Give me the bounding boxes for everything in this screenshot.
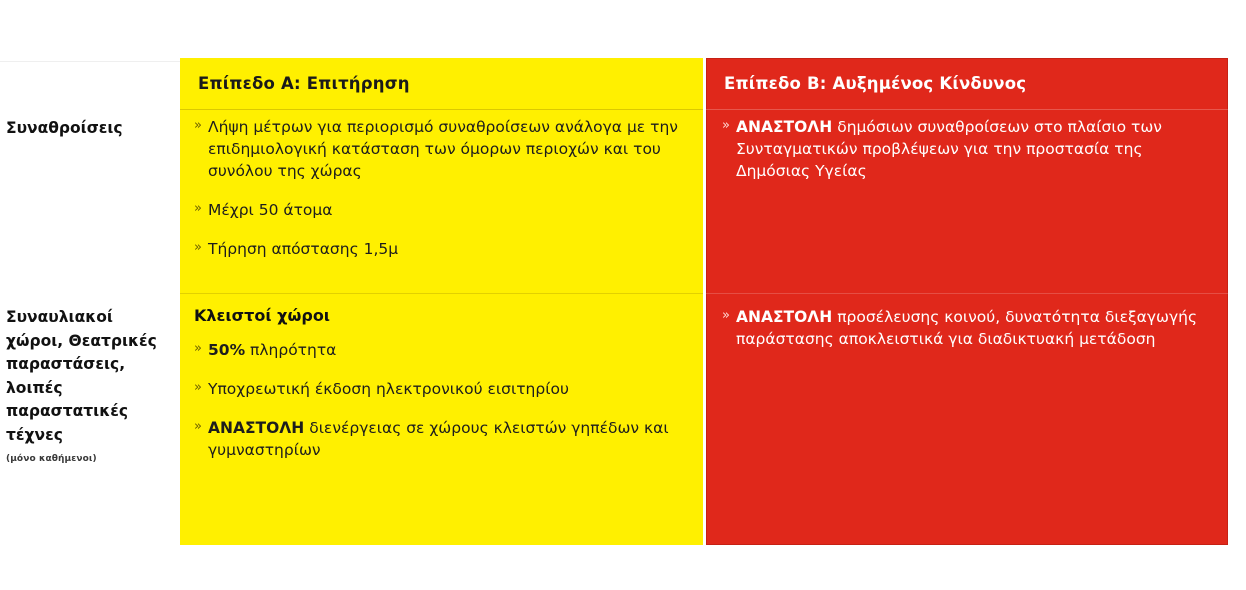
list-item-text: ΑΝΑΣΤΟΛΗ δημόσιων συναθροίσεων στο πλαίσ…	[736, 118, 1162, 180]
list-item-text: 50% πληρότητα	[208, 341, 336, 359]
column-level-a: Επίπεδο Α: Επιτήρηση » Λήψη μέτρων για π…	[180, 58, 703, 545]
emphasis-word: 50%	[208, 341, 245, 359]
list-item-text: Λήψη μέτρων για περιορισμό συναθροίσεων …	[208, 118, 678, 180]
emphasis-word: ΑΝΑΣΤΟΛΗ	[736, 118, 832, 136]
cell-level-a-venues: Κλειστοί χώροι » 50% πληρότητα » Υποχρεω…	[180, 306, 703, 461]
list-item: » 50% πληρότητα	[194, 339, 681, 361]
row-label-text: Συναθροίσεις	[6, 119, 123, 137]
list-item-text: Υποχρεωτική έκδοση ηλεκτρονικού εισιτηρί…	[208, 380, 569, 398]
list-item: » ΑΝΑΣΤΟΛΗ προσέλευσης κοινού, δυνατότητ…	[722, 306, 1206, 350]
column-header-level-b: Επίπεδο Β: Αυξημένος Κίνδυνος	[706, 58, 1228, 110]
list-item-text: Τήρηση απόστασης 1,5μ	[208, 240, 398, 258]
list-item-text: Μέχρι 50 άτομα	[208, 201, 332, 219]
emphasis-word: ΑΝΑΣΤΟΛΗ	[208, 419, 304, 437]
bullet-marker-icon: »	[194, 378, 202, 398]
bullet-marker-icon: »	[194, 339, 202, 359]
row-label-gatherings: Συναθροίσεις	[6, 117, 174, 141]
bullet-marker-icon: »	[194, 238, 202, 258]
list-item-text: ΑΝΑΣΤΟΛΗ προσέλευσης κοινού, δυνατότητα …	[736, 308, 1197, 348]
bullet-list: » ΑΝΑΣΤΟΛΗ προσέλευσης κοινού, δυνατότητ…	[722, 306, 1206, 350]
cell-level-a-gatherings: » Λήψη μέτρων για περιορισμό συναθροίσεω…	[180, 116, 703, 260]
bullet-marker-icon: »	[194, 417, 202, 437]
list-item: » ΑΝΑΣΤΟΛΗ διενέργειας σε χώρους κλειστώ…	[194, 417, 681, 461]
list-item: » Μέχρι 50 άτομα	[194, 199, 681, 221]
list-item-text: ΑΝΑΣΤΟΛΗ διενέργειας σε χώρους κλειστών …	[208, 419, 669, 459]
column-header-level-a: Επίπεδο Α: Επιτήρηση	[180, 58, 703, 110]
bullet-marker-icon: »	[194, 199, 202, 219]
list-item: » ΑΝΑΣΤΟΛΗ δημόσιων συναθροίσεων στο πλα…	[722, 116, 1206, 182]
column-b-row-divider	[706, 293, 1228, 294]
column-level-b: Επίπεδο Β: Αυξημένος Κίνδυνος » ΑΝΑΣΤΟΛΗ…	[706, 58, 1228, 545]
row-label-note: (μόνο καθήμενοι)	[6, 453, 174, 467]
bullet-marker-icon: »	[722, 116, 730, 136]
header-rule	[0, 61, 180, 62]
list-item: » Λήψη μέτρων για περιορισμό συναθροίσεω…	[194, 116, 681, 182]
cell-level-b-gatherings: » ΑΝΑΣΤΟΛΗ δημόσιων συναθροίσεων στο πλα…	[706, 116, 1228, 182]
row-label-text: Συναυλιακοί χώροι, Θεατρικές παραστάσεις…	[6, 308, 157, 444]
column-a-row-divider	[180, 293, 703, 294]
cell-subheading: Κλειστοί χώροι	[194, 306, 681, 325]
list-item: » Τήρηση απόστασης 1,5μ	[194, 238, 681, 260]
emphasis-word: ΑΝΑΣΤΟΛΗ	[736, 308, 832, 326]
bullet-marker-icon: »	[722, 306, 730, 326]
bullet-list: » Λήψη μέτρων για περιορισμό συναθροίσεω…	[194, 116, 681, 260]
bullet-list: » 50% πληρότητα » Υποχρεωτική έκδοση ηλε…	[194, 339, 681, 461]
bullet-marker-icon: »	[194, 116, 202, 136]
list-item: » Υποχρεωτική έκδοση ηλεκτρονικού εισιτη…	[194, 378, 681, 400]
measures-levels-slide: Συναθροίσεις Συναυλιακοί χώροι, Θεατρικέ…	[0, 0, 1246, 590]
row-label-venues: Συναυλιακοί χώροι, Θεατρικές παραστάσεις…	[6, 306, 174, 467]
cell-level-b-venues: » ΑΝΑΣΤΟΛΗ προσέλευσης κοινού, δυνατότητ…	[706, 306, 1228, 350]
bullet-list: » ΑΝΑΣΤΟΛΗ δημόσιων συναθροίσεων στο πλα…	[722, 116, 1206, 182]
